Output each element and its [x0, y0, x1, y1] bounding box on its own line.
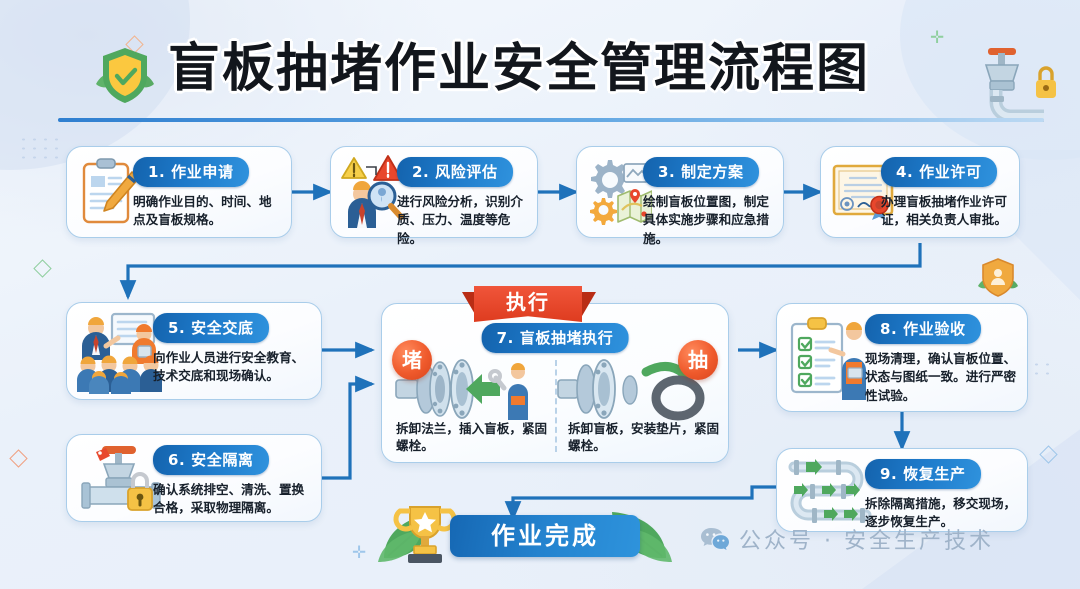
- connector-6-to-exec: [322, 384, 372, 478]
- step-card-4[interactable]: 4. 作业许可 办理盲板抽堵作业许可证，相关负责人审批。: [820, 146, 1020, 238]
- step-desc-6: 确认系统排空、清洗、置换合格，采取物理隔离。: [153, 481, 311, 518]
- step-card-6[interactable]: 6. 安全隔离 确认系统排空、清洗、置换合格，采取物理隔离。: [66, 434, 322, 522]
- shield-person-decor-icon: [975, 256, 1021, 302]
- diamond-decor-4: [1039, 445, 1057, 463]
- execution-caption-right: 拆卸盲板，安装垫片，紧固螺栓。: [568, 420, 728, 455]
- step-desc-5: 向作业人员进行安全教育、技术交底和现场确认。: [153, 349, 311, 386]
- completion-label: 作业完成: [450, 515, 640, 557]
- step-desc-8: 现场清理，确认盲板位置、状态与图纸一致。进行严密性试验。: [865, 350, 1017, 405]
- header: 盲板抽堵作业安全管理流程图: [0, 0, 1080, 125]
- step-card-2[interactable]: 2. 风险评估 进行风险分析，识别介质、压力、温度等危险。: [330, 146, 538, 238]
- watermark: 公众号 · 安全生产技术: [700, 523, 994, 555]
- shield-check-icon: [92, 44, 158, 108]
- badge-du: 堵: [392, 340, 432, 380]
- watermark-text: 公众号 · 安全生产技术: [739, 523, 994, 555]
- step-badge-5: 5. 安全交底: [153, 313, 269, 343]
- page-title: 盲板抽堵作业安全管理流程图: [168, 26, 870, 101]
- step-desc-3: 绘制盲板位置图，制定具体实施步骤和应急措施。: [643, 193, 773, 248]
- diamond-decor-2: [33, 259, 51, 277]
- step-badge-8: 8. 作业验收: [865, 314, 981, 344]
- step-badge-6: 6. 安全隔离: [153, 445, 269, 475]
- completion-banner[interactable]: 作业完成: [392, 509, 644, 563]
- step-card-3[interactable]: 3. 制定方案 绘制盲板位置图，制定具体实施步骤和应急措施。: [576, 146, 784, 238]
- wechat-icon: [700, 526, 730, 552]
- execution-panel[interactable]: 7. 盲板抽堵执行 堵 抽: [381, 303, 729, 463]
- step-desc-1: 明确作业目的、时间、地点及盲板规格。: [133, 193, 281, 230]
- execution-caption-left: 拆卸法兰，插入盲板，紧固螺栓。: [396, 420, 556, 455]
- pipe-valve-lock-icon: [940, 26, 1060, 122]
- flowchart-canvas: ✛ ✛ 盲板抽堵作业安全管理流程图: [0, 0, 1080, 589]
- header-divider: [58, 118, 1044, 122]
- step-badge-3: 3. 制定方案: [643, 157, 759, 187]
- checklist-inspector-icon: [786, 312, 876, 404]
- step-badge-9: 9. 恢复生产: [865, 459, 981, 489]
- badge-chou: 抽: [678, 340, 718, 380]
- execution-title-badge: 7. 盲板抽堵执行: [482, 323, 629, 353]
- step-badge-2: 2. 风险评估: [397, 157, 513, 187]
- diamond-decor-3: [9, 449, 27, 467]
- step-badge-4: 4. 作业许可: [881, 157, 997, 187]
- step-card-1[interactable]: 1. 作业申请 明确作业目的、时间、地点及盲板规格。: [66, 146, 292, 238]
- step-card-9[interactable]: 9. 恢复生产 拆除隔离措施，移交现场，逐步恢复生产。: [776, 448, 1028, 532]
- trophy-icon: [392, 503, 458, 565]
- step-badge-1: 1. 作业申请: [133, 157, 249, 187]
- step-card-8[interactable]: 8. 作业验收 现场清理，确认盲板位置、状态与图纸一致。进行严密性试验。: [776, 303, 1028, 412]
- step-desc-4: 办理盲板抽堵作业许可证，相关负责人审批。: [881, 193, 1009, 230]
- plus-decor-2: ✛: [352, 545, 366, 562]
- step-card-5[interactable]: 5. 安全交底 向作业人员进行安全教育、技术交底和现场确认。: [66, 302, 322, 400]
- step-desc-2: 进行风险分析，识别介质、压力、温度等危险。: [397, 193, 527, 248]
- dot-grid-decor: [18, 135, 64, 161]
